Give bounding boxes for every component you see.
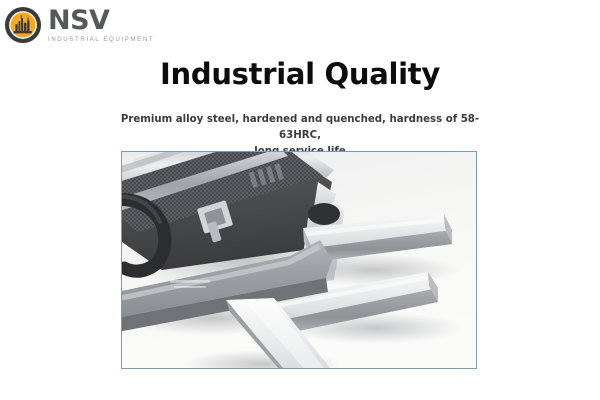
subtitle-line-1: Premium alloy steel, hardened and quench… [121,114,479,141]
brand-tagline: INDUSTRIAL EQUIPMENT [48,37,154,43]
industrial-gear-factory-icon [4,6,42,44]
product-photo [121,151,477,369]
brand-name: NSV [48,7,154,34]
page-title: Industrial Quality [0,57,600,91]
product-photo-canvas [122,152,476,368]
brand-logo: NSV INDUSTRIAL EQUIPMENT [4,6,154,44]
brand-wordmark: NSV INDUSTRIAL EQUIPMENT [48,7,154,43]
